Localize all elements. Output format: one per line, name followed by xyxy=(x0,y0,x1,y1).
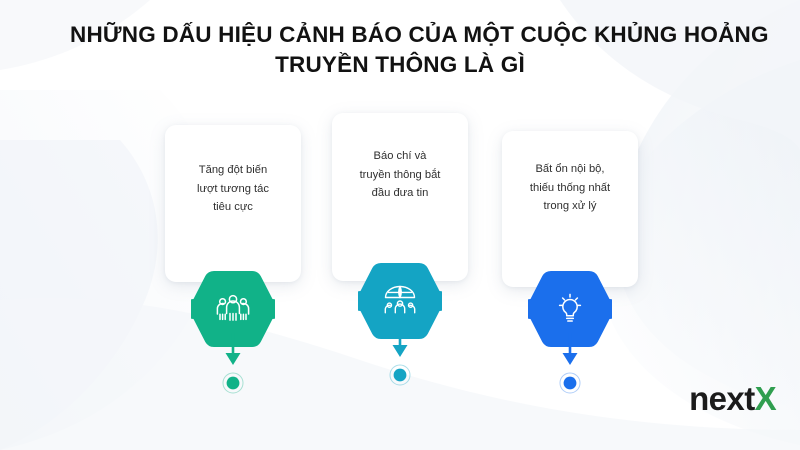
step-card-3-text: Bất ổn nội bộ, thiếu thống nhất trong xử… xyxy=(521,160,619,216)
step-connector-2 xyxy=(380,325,420,387)
step-connector-3 xyxy=(550,333,590,395)
step-card-1-line-1: Tăng đột biến xyxy=(197,161,269,180)
step-card-2-text: Báo chí và truyền thông bắt đầu đưa tin xyxy=(351,147,450,203)
step-card-3-line-2: thiếu thống nhất xyxy=(530,179,610,198)
step-card-3-line-1: Bất ổn nội bộ, xyxy=(530,160,610,179)
logo-text-x: X xyxy=(755,380,776,417)
step-card-3: Bất ổn nội bộ, thiếu thống nhất trong xử… xyxy=(502,131,638,287)
step-card-2-line-2: truyền thông bắt xyxy=(360,166,441,185)
step-card-1-line-2: lượt tương tác xyxy=(197,180,269,199)
infographic-slide: NHỮNG DẤU HIỆU CẢNH BÁO CỦA MỘT CUỘC KHỦ… xyxy=(0,0,800,450)
brand-logo[interactable]: nextX xyxy=(689,382,776,415)
step-card-2: Báo chí và truyền thông bắt đầu đưa tin xyxy=(332,113,468,281)
step-card-1-line-3: tiêu cực xyxy=(197,198,269,217)
step-card-2-line-1: Báo chí và xyxy=(360,147,441,166)
page-title: NHỮNG DẤU HIỆU CẢNH BÁO CỦA MỘT CUỘC KHỦ… xyxy=(70,20,730,79)
title-line-2: TRUYỀN THÔNG LÀ GÌ xyxy=(70,50,730,79)
step-connector-1 xyxy=(213,333,253,395)
step-card-3-line-3: trong xử lý xyxy=(530,197,610,216)
logo-text-next: next xyxy=(689,380,754,417)
step-card-2-line-3: đầu đưa tin xyxy=(360,184,441,203)
title-line-1: NHỮNG DẤU HIỆU CẢNH BÁO CỦA MỘT CUỘC KHỦ… xyxy=(70,20,730,49)
step-card-1: Tăng đột biến lượt tương tác tiêu cực xyxy=(165,125,301,282)
step-card-1-text: Tăng đột biến lượt tương tác tiêu cực xyxy=(188,161,278,217)
